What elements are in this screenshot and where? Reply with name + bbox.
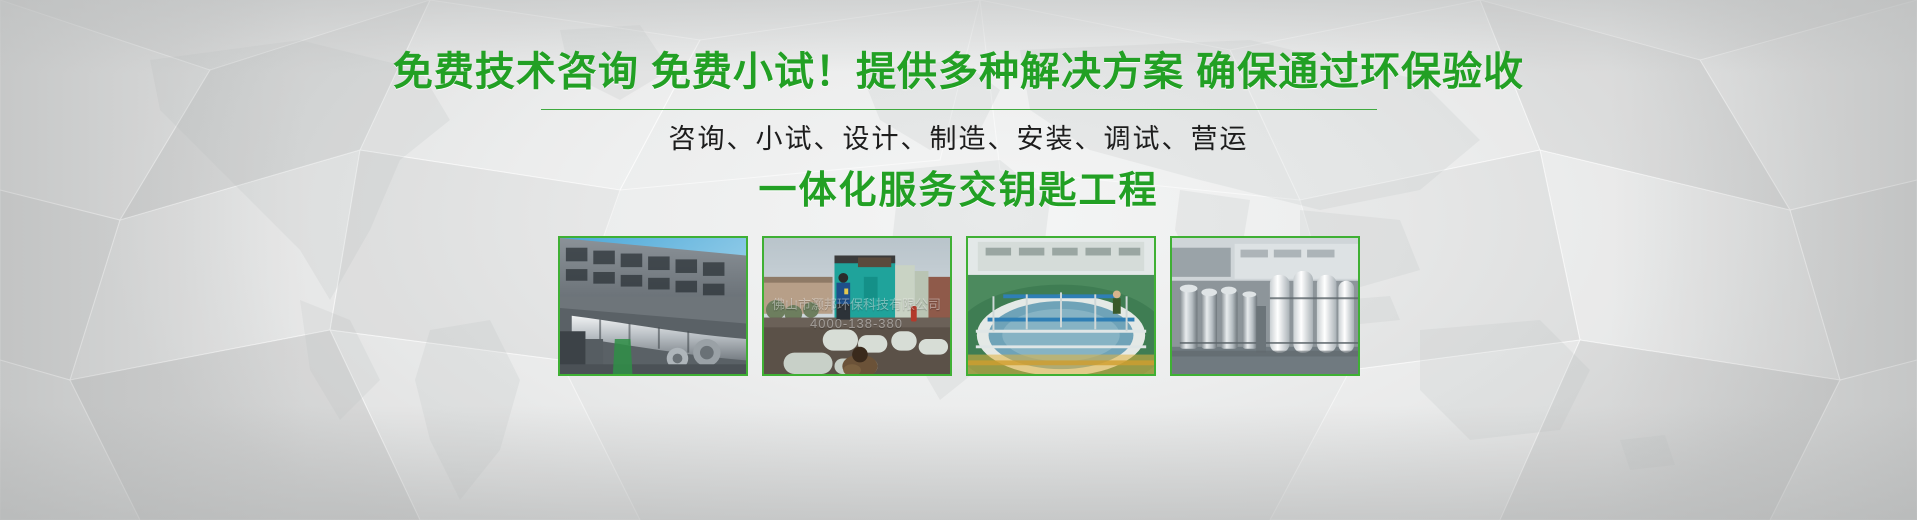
photo-water-treatment-tanks: [1172, 238, 1358, 374]
gallery-item-circular-sedimentation-tank[interactable]: [966, 236, 1156, 376]
gallery-item-water-treatment-tanks[interactable]: [1170, 236, 1360, 376]
banner-tagline: 一体化服务交钥匙工程: [758, 172, 1158, 210]
photo-waste-gas-treatment-ducting: [560, 238, 746, 374]
gallery-item-waste-gas-treatment-ducting[interactable]: [558, 236, 748, 376]
banner-subline: 咨询、小试、设计、制造、安装、调试、营运: [669, 126, 1249, 153]
promo-banner: 免费技术咨询 免费小试！提供多种解决方案 确保通过环保验收 咨询、小试、设计、制…: [0, 0, 1917, 520]
banner-headline: 免费技术咨询 免费小试！提供多种解决方案 确保通过环保验收: [393, 52, 1524, 92]
photo-circular-sedimentation-tank: [968, 238, 1154, 374]
photo-gallery: 佛山市灏邦环保科技有限公司 4000-138-380: [558, 236, 1360, 376]
headline-divider: [541, 109, 1377, 110]
photo-frp-scrubber-workshop: [764, 238, 950, 374]
gallery-item-frp-scrubber-workshop[interactable]: 佛山市灏邦环保科技有限公司 4000-138-380: [762, 236, 952, 376]
